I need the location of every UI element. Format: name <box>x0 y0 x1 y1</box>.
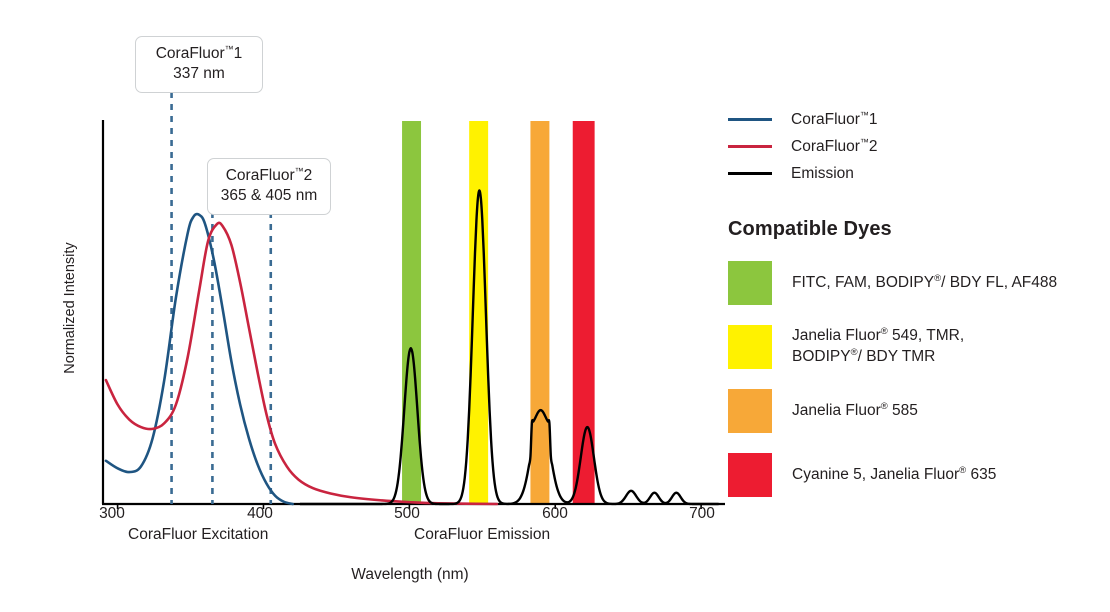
dye-swatch-green <box>728 261 772 305</box>
compatible-dyes-heading: Compatible Dyes <box>728 218 1100 241</box>
dye-swatch-red <box>728 453 772 497</box>
x-tick-500: 500 <box>377 505 437 523</box>
x-tick-400: 400 <box>230 505 290 523</box>
curve-corafluor2 <box>106 223 497 504</box>
x-tick-700: 700 <box>672 505 732 523</box>
dye-row-orange: Janelia Fluor® 585 <box>728 389 1100 433</box>
dye-row-green: FITC, FAM, BODIPY®/ BDY FL, AF488 <box>728 261 1100 305</box>
dye-swatch-yellow <box>728 325 772 369</box>
legend-label-corafluor1: CoraFluor™1 <box>791 111 878 129</box>
legend-panel: CoraFluor™1 CoraFluor™2 Emission Compati… <box>728 106 1100 497</box>
emission-section-label: CoraFluor Emission <box>414 526 550 544</box>
dye-label-red: Cyanine 5, Janelia Fluor® 635 <box>792 465 996 486</box>
callout-2-line1: CoraFluor™2 <box>220 166 318 186</box>
callout-corafluor1: CoraFluor™1 337 nm <box>135 36 263 93</box>
legend-label-corafluor2: CoraFluor™2 <box>791 138 878 156</box>
x-axis-title: Wavelength (nm) <box>0 566 820 584</box>
legend-label-emission: Emission <box>791 165 854 183</box>
callout-1-line1: CoraFluor™1 <box>148 44 250 64</box>
dye-label-green: FITC, FAM, BODIPY®/ BDY FL, AF488 <box>792 273 1057 294</box>
legend-item-corafluor1: CoraFluor™1 <box>728 106 1100 133</box>
emission-band-0 <box>402 121 421 504</box>
x-tick-300: 300 <box>82 505 142 523</box>
callout-1-line2: 337 nm <box>148 64 250 84</box>
callout-2-line2: 365 & 405 nm <box>220 186 318 206</box>
legend-line-swatch-emission <box>728 172 772 175</box>
excitation-section-label: CoraFluor Excitation <box>128 526 268 544</box>
legend-line-swatch-corafluor1 <box>728 118 772 121</box>
y-axis-label: Normalized Intensity <box>62 223 78 393</box>
legend-item-emission: Emission <box>728 160 1100 187</box>
emission-band-2 <box>530 121 549 504</box>
dye-row-yellow: Janelia Fluor® 549, TMR, BODIPY®/ BDY TM… <box>728 325 1100 369</box>
dye-swatch-orange <box>728 389 772 433</box>
dye-label-orange: Janelia Fluor® 585 <box>792 401 918 422</box>
legend-item-corafluor2: CoraFluor™2 <box>728 133 1100 160</box>
dye-label-yellow: Janelia Fluor® 549, TMR, BODIPY®/ BDY TM… <box>792 326 964 367</box>
dye-row-red: Cyanine 5, Janelia Fluor® 635 <box>728 453 1100 497</box>
x-tick-600: 600 <box>525 505 585 523</box>
curve-corafluor1 <box>106 214 293 504</box>
legend-line-swatch-corafluor2 <box>728 145 772 148</box>
fluorescence-spectra-figure: CoraFluor™1 337 nm CoraFluor™2 365 & 405… <box>0 0 1110 612</box>
callout-corafluor2: CoraFluor™2 365 & 405 nm <box>207 158 331 215</box>
